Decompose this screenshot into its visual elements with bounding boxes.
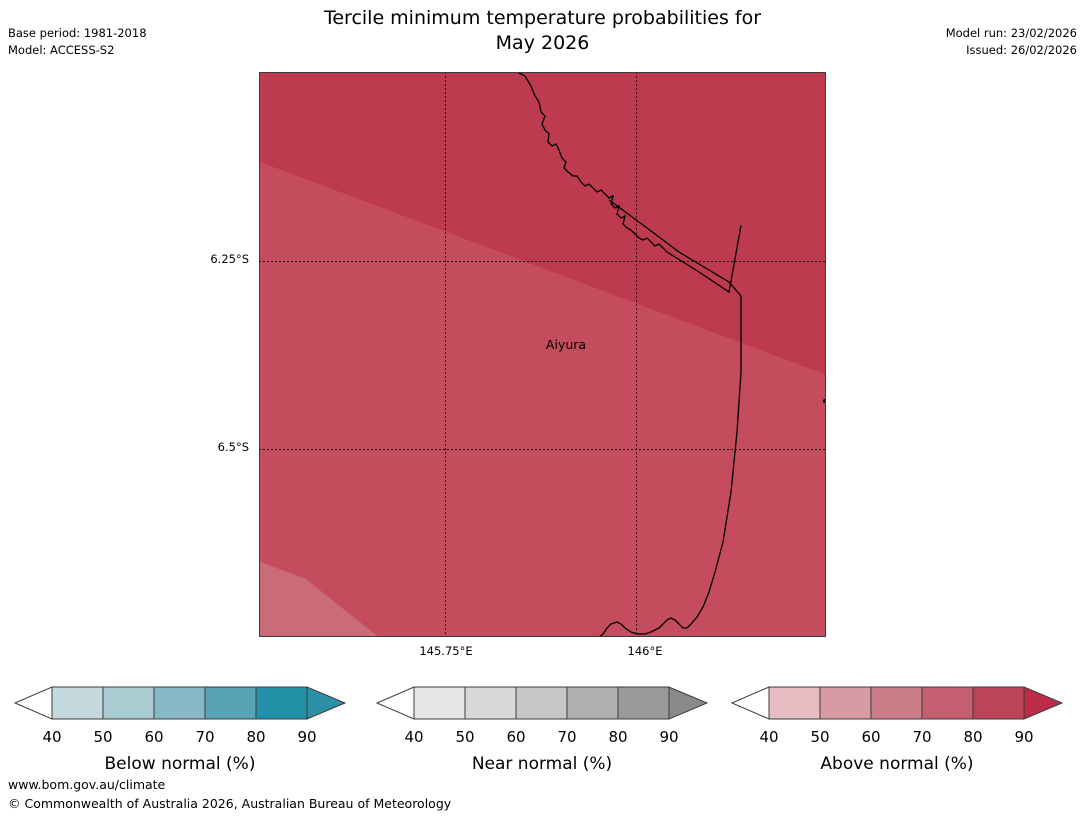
colorbar-below-normal-tick-90: 90 [287,728,327,746]
city-label-aiyura: Aiyura [506,337,626,352]
colorbar-above-normal-tick-60: 60 [851,728,891,746]
gridline-longitude-145-75 [445,72,446,637]
map-canvas[interactable] [259,72,826,637]
colorbar-near-normal-tick-70: 70 [547,728,587,746]
page-title: Tercile minimum temperature probabilitie… [0,6,1085,56]
colorbar-below-normal: 405060708090 Below normal (%) [5,676,355,784]
gridline-latitude-6-5 [259,449,826,450]
colorbar-below-normal-tick-80: 80 [236,728,276,746]
colorbar-below-normal-ticks: 405060708090 [5,728,355,748]
colorbar-near-normal-title: Near normal (%) [367,754,717,774]
colorbar-above-normal-tick-50: 50 [800,728,840,746]
page-title-line2: May 2026 [0,31,1085,56]
colorbar-above-normal-title: Above normal (%) [722,754,1072,774]
colorbar-below-normal-tick-50: 50 [83,728,123,746]
colorbar-above-normal-tick-80: 80 [953,728,993,746]
colorbar-near-normal-ticks: 405060708090 [367,728,717,748]
gridline-latitude-6-25 [259,261,826,262]
colorbar-below-normal-title: Below normal (%) [5,754,355,774]
footer-url: www.bom.gov.au/climate [8,775,451,794]
colorbar-above-normal-ticks: 405060708090 [722,728,1072,748]
colorbar-below-normal-tick-70: 70 [185,728,225,746]
axis-tick-latitude-1: 6.5°S [0,440,249,454]
colorbar-above-normal-swatches [722,676,1072,728]
axis-tick-longitude-0: 145.75°E [386,644,506,658]
colorbar-above-normal: 405060708090 Above normal (%) [722,676,1072,784]
colorbar-near-normal: 405060708090 Near normal (%) [367,676,717,784]
axis-tick-latitude-0: 6.25°S [0,252,249,266]
colorbar-near-normal-tick-90: 90 [649,728,689,746]
footer-copyright: © Commonwealth of Australia 2026, Austra… [8,794,451,813]
colorbar-above-normal-tick-70: 70 [902,728,942,746]
axis-tick-longitude-1: 146°E [585,644,705,658]
page-title-line1: Tercile minimum temperature probabilitie… [0,6,1085,31]
colorbar-below-normal-tick-60: 60 [134,728,174,746]
colorbar-above-normal-tick-40: 40 [749,728,789,746]
colorbar-near-normal-tick-50: 50 [445,728,485,746]
coastline-border [259,72,826,637]
colorbar-near-normal-swatches [367,676,717,728]
colorbar-above-normal-tick-90: 90 [1004,728,1044,746]
colorbar-below-normal-swatches [5,676,355,728]
colorbar-near-normal-tick-40: 40 [394,728,434,746]
city-marker-aiyura [823,399,826,403]
gridline-longitude-146 [636,72,637,637]
colorbar-below-normal-tick-40: 40 [32,728,72,746]
footer: www.bom.gov.au/climate © Commonwealth of… [8,775,451,813]
colorbar-near-normal-tick-60: 60 [496,728,536,746]
colorbar-near-normal-tick-80: 80 [598,728,638,746]
